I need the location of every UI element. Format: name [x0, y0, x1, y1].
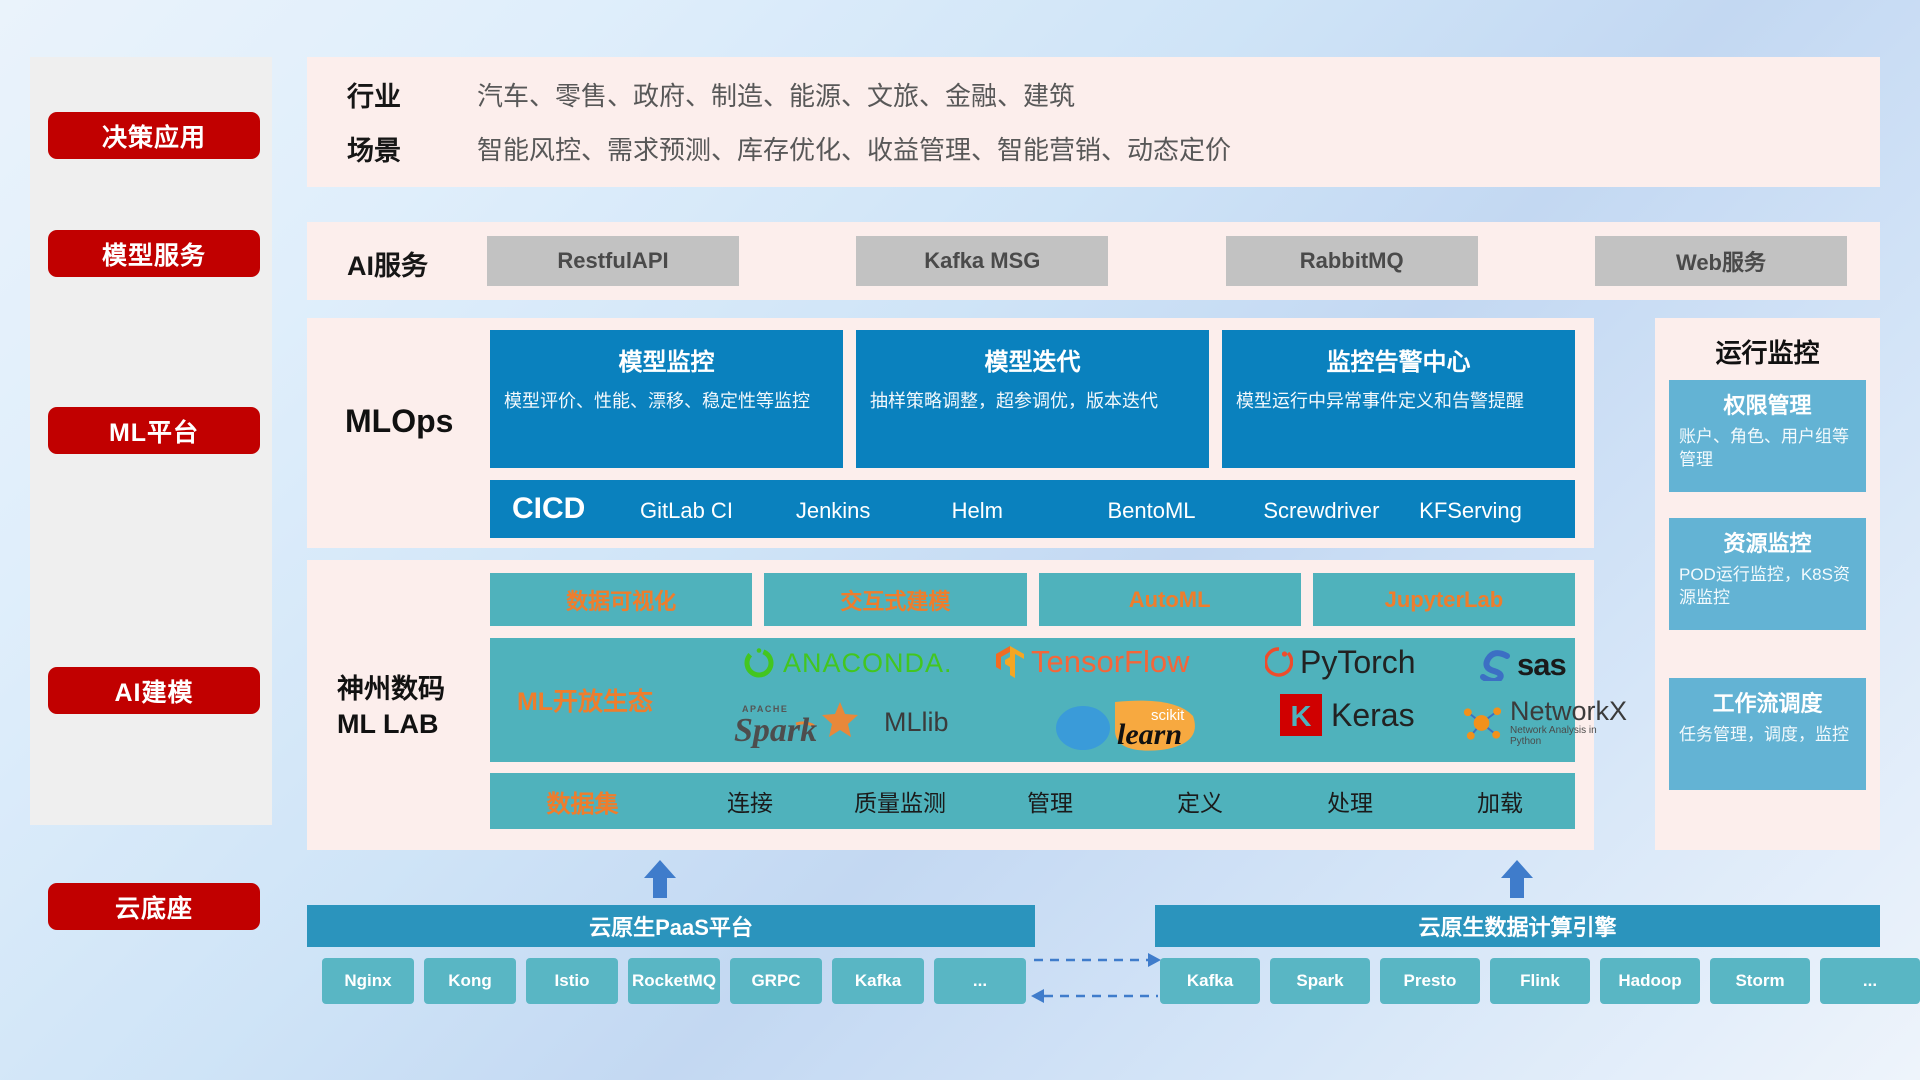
engine-chip-list: Kafka Spark Presto Flink Hadoop Storm ..…	[1160, 958, 1920, 1004]
ml-ecosystem-label: ML开放生态	[490, 682, 680, 718]
rail-item-ml-platform[interactable]: ML平台	[48, 407, 260, 454]
networkx-wordmark: NetworkX	[1510, 698, 1628, 725]
tool-chip-data-visualization[interactable]: 数据可视化	[490, 573, 752, 626]
keras-icon: K	[1280, 694, 1322, 736]
monitor-card-permission[interactable]: 权限管理 账户、角色、用户组等管理	[1669, 380, 1866, 492]
paas-chip-nginx[interactable]: Nginx	[322, 958, 414, 1004]
card-title: 模型迭代	[870, 342, 1195, 377]
pytorch-wordmark: PyTorch	[1300, 644, 1416, 681]
cicd-item-jenkins[interactable]: Jenkins	[796, 496, 952, 526]
scenario-value: 智能风控、需求预测、库存优化、收益管理、智能营销、动态定价	[477, 130, 1231, 167]
sas-icon	[1480, 649, 1514, 681]
data-compute-engine-bar: 云原生数据计算引擎	[1155, 905, 1880, 947]
layer-rail: 决策应用 模型服务 ML平台 AI建模	[30, 57, 272, 825]
paas-chip-rocketmq[interactable]: RocketMQ	[628, 958, 720, 1004]
keras-wordmark: Keras	[1331, 697, 1415, 734]
mllib-wordmark: MLlib	[884, 707, 949, 738]
tool-chip-jupyterlab[interactable]: JupyterLab	[1313, 573, 1575, 626]
ml-lab-label: 神州数码 ML LAB	[337, 672, 487, 741]
applications-band: 行业 汽车、零售、政府、制造、能源、文旅、金融、建筑 场景 智能风控、需求预测、…	[307, 57, 1880, 187]
dataset-item-management[interactable]: 管理	[975, 784, 1125, 818]
card-title: 权限管理	[1679, 388, 1856, 420]
scenario-row: 场景 智能风控、需求预测、库存优化、收益管理、智能营销、动态定价	[347, 129, 1231, 168]
mlops-card-list: 模型监控 模型评价、性能、漂移、稳定性等监控 模型迭代 抽样策略调整，超参调优，…	[490, 330, 1575, 468]
scenario-label: 场景	[347, 129, 477, 168]
mlops-label: MLOps	[345, 403, 453, 440]
svg-text:learn: learn	[1117, 718, 1182, 751]
rail-item-label: 模型服务	[102, 236, 206, 272]
mlops-card-model-monitoring[interactable]: 模型监控 模型评价、性能、漂移、稳定性等监控	[490, 330, 843, 468]
pytorch-icon	[1265, 646, 1293, 680]
ml-lab-tool-list: 数据可视化 交互式建模 AutoML JupyterLab	[490, 573, 1575, 626]
dataset-item-loading[interactable]: 加载	[1425, 784, 1575, 818]
card-desc: 任务管理，调度，监控	[1679, 724, 1856, 747]
paas-platform-bar: 云原生PaaS平台	[307, 905, 1035, 947]
tool-chip-interactive-modeling[interactable]: 交互式建模	[764, 573, 1026, 626]
card-title: 资源监控	[1679, 526, 1856, 558]
cicd-title: CICD	[490, 480, 640, 526]
tool-chip-automl[interactable]: AutoML	[1039, 573, 1301, 626]
rail-item-label: ML平台	[109, 413, 199, 449]
industry-label: 行业	[347, 75, 477, 114]
ml-ecosystem-logo-grid: ANACONDA. APACHE Spark MLlib	[680, 638, 1575, 762]
cicd-item-helm[interactable]: Helm	[952, 496, 1108, 526]
engine-chip-presto[interactable]: Presto	[1380, 958, 1480, 1004]
networkx-icon	[1460, 702, 1505, 744]
svg-text:K: K	[1291, 701, 1312, 733]
mlops-band: MLOps 模型监控 模型评价、性能、漂移、稳定性等监控 模型迭代 抽样策略调整…	[307, 318, 1594, 548]
dataset-item-connect[interactable]: 连接	[675, 784, 825, 818]
card-desc: 账户、角色、用户组等管理	[1679, 426, 1856, 472]
spark-icon: APACHE Spark	[728, 696, 878, 748]
anaconda-wordmark: ANACONDA.	[783, 648, 953, 679]
paas-chip-more[interactable]: ...	[934, 958, 1026, 1004]
cicd-bar: CICD GitLab CI Jenkins Helm BentoML Scre…	[490, 480, 1575, 538]
tensorflow-wordmark: TensorFlow	[1031, 644, 1190, 680]
service-chip-restfulapi[interactable]: RestfulAPI	[487, 236, 739, 286]
anaconda-logo: ANACONDA.	[742, 646, 953, 680]
dataset-bar: 数据集 连接 质量监测 管理 定义 处理 加载	[490, 773, 1575, 829]
rail-item-decision-apps[interactable]: 决策应用	[48, 112, 260, 159]
service-chip-kafka-msg[interactable]: Kafka MSG	[856, 236, 1108, 286]
svg-text:Spark: Spark	[734, 712, 817, 748]
ai-service-chip-list: RestfulAPI Kafka MSG RabbitMQ Web服务	[487, 236, 1847, 286]
keras-logo: K Keras	[1280, 694, 1415, 736]
dataset-item-quality-monitoring[interactable]: 质量监测	[825, 784, 975, 818]
mlops-card-model-iteration[interactable]: 模型迭代 抽样策略调整，超参调优，版本迭代	[856, 330, 1209, 468]
tensorflow-icon	[995, 645, 1025, 679]
rail-item-model-service[interactable]: 模型服务	[48, 230, 260, 277]
dataset-item-list: 连接 质量监测 管理 定义 处理 加载	[675, 784, 1575, 818]
rail-item-label: 决策应用	[102, 118, 206, 154]
rail-item-ai-modeling[interactable]: AI建模	[48, 667, 260, 714]
rail-item-cloud-base[interactable]: 云底座	[48, 883, 260, 930]
engine-chip-hadoop[interactable]: Hadoop	[1600, 958, 1700, 1004]
card-desc: 抽样策略调整，超参调优，版本迭代	[870, 389, 1195, 413]
networkx-logo: NetworkX Network Analysis in Python	[1460, 698, 1628, 747]
dataset-item-definition[interactable]: 定义	[1125, 784, 1275, 818]
runtime-monitoring-title: 运行监控	[1655, 333, 1880, 370]
ai-service-band: AI服务 RestfulAPI Kafka MSG RabbitMQ Web服务	[307, 222, 1880, 300]
monitor-card-workflow[interactable]: 工作流调度 任务管理，调度，监控	[1669, 678, 1866, 790]
spark-mllib-logo: APACHE Spark MLlib	[728, 696, 949, 748]
cicd-item-screwdriver[interactable]: Screwdriver	[1263, 496, 1419, 526]
ml-lab-label-line2: ML LAB	[337, 707, 487, 742]
paas-chip-list: Nginx Kong Istio RocketMQ GRPC Kafka ...	[322, 958, 1026, 1004]
engine-chip-more[interactable]: ...	[1820, 958, 1920, 1004]
networkx-tagline: Network Analysis in Python	[1510, 725, 1628, 747]
card-title: 监控告警中心	[1236, 342, 1561, 377]
cicd-item-gitlab-ci[interactable]: GitLab CI	[640, 496, 796, 526]
anaconda-icon	[742, 646, 776, 680]
ml-ecosystem-panel: ML开放生态 ANACONDA. APACHE Spa	[490, 638, 1575, 762]
industry-value: 汽车、零售、政府、制造、能源、文旅、金融、建筑	[477, 76, 1075, 113]
industry-row: 行业 汽车、零售、政府、制造、能源、文旅、金融、建筑	[347, 75, 1075, 114]
paas-chip-kong[interactable]: Kong	[424, 958, 516, 1004]
service-chip-web[interactable]: Web服务	[1595, 236, 1847, 286]
monitor-card-resource[interactable]: 资源监控 POD运行监控，K8S资源监控	[1669, 518, 1866, 630]
tensorflow-logo: TensorFlow	[995, 644, 1190, 680]
rail-item-label: AI建模	[114, 673, 193, 709]
rail-item-label: 云底座	[115, 889, 193, 925]
engine-chip-storm[interactable]: Storm	[1710, 958, 1810, 1004]
card-desc: 模型评价、性能、漂移、稳定性等监控	[504, 389, 829, 413]
ml-lab-band: 神州数码 ML LAB 数据可视化 交互式建模 AutoML JupyterLa…	[307, 560, 1594, 850]
ml-lab-label-line1: 神州数码	[337, 672, 487, 707]
cicd-item-kfserving[interactable]: KFServing	[1419, 496, 1575, 526]
architecture-diagram: 决策应用 模型服务 ML平台 AI建模 云底座 行业 汽车、零售、政府、制造、能…	[0, 0, 1920, 1080]
ai-service-label: AI服务	[347, 244, 428, 283]
scikit-learn-logo: scikit learn	[1055, 696, 1245, 757]
mlops-card-alert-center[interactable]: 监控告警中心 模型运行中异常事件定义和告警提醒	[1222, 330, 1575, 468]
sas-wordmark: sas	[1517, 647, 1566, 683]
card-desc: 模型运行中异常事件定义和告警提醒	[1236, 389, 1561, 413]
service-chip-rabbitmq[interactable]: RabbitMQ	[1226, 236, 1478, 286]
card-desc: POD运行监控，K8S资源监控	[1679, 564, 1856, 610]
paas-chip-kafka[interactable]: Kafka	[832, 958, 924, 1004]
runtime-monitoring-band: 运行监控 权限管理 账户、角色、用户组等管理 资源监控 POD运行监控，K8S资…	[1655, 318, 1880, 850]
up-arrow-icon-engine	[1497, 858, 1537, 898]
pytorch-logo: PyTorch	[1265, 644, 1416, 681]
engine-chip-spark[interactable]: Spark	[1270, 958, 1370, 1004]
cicd-item-bentoml[interactable]: BentoML	[1107, 496, 1263, 526]
engine-chip-flink[interactable]: Flink	[1490, 958, 1590, 1004]
card-title: 模型监控	[504, 342, 829, 377]
dataset-label: 数据集	[490, 784, 675, 819]
sas-logo: sas	[1480, 647, 1566, 683]
cicd-item-list: GitLab CI Jenkins Helm BentoML Screwdriv…	[640, 480, 1575, 526]
paas-chip-istio[interactable]: Istio	[526, 958, 618, 1004]
card-title: 工作流调度	[1679, 686, 1856, 718]
dataset-item-processing[interactable]: 处理	[1275, 784, 1425, 818]
up-arrow-icon-paas	[640, 858, 680, 898]
bidirectional-dashed-connector	[1030, 948, 1162, 1008]
scikit-learn-icon: scikit learn	[1055, 696, 1245, 752]
engine-chip-kafka[interactable]: Kafka	[1160, 958, 1260, 1004]
paas-chip-grpc[interactable]: GRPC	[730, 958, 822, 1004]
